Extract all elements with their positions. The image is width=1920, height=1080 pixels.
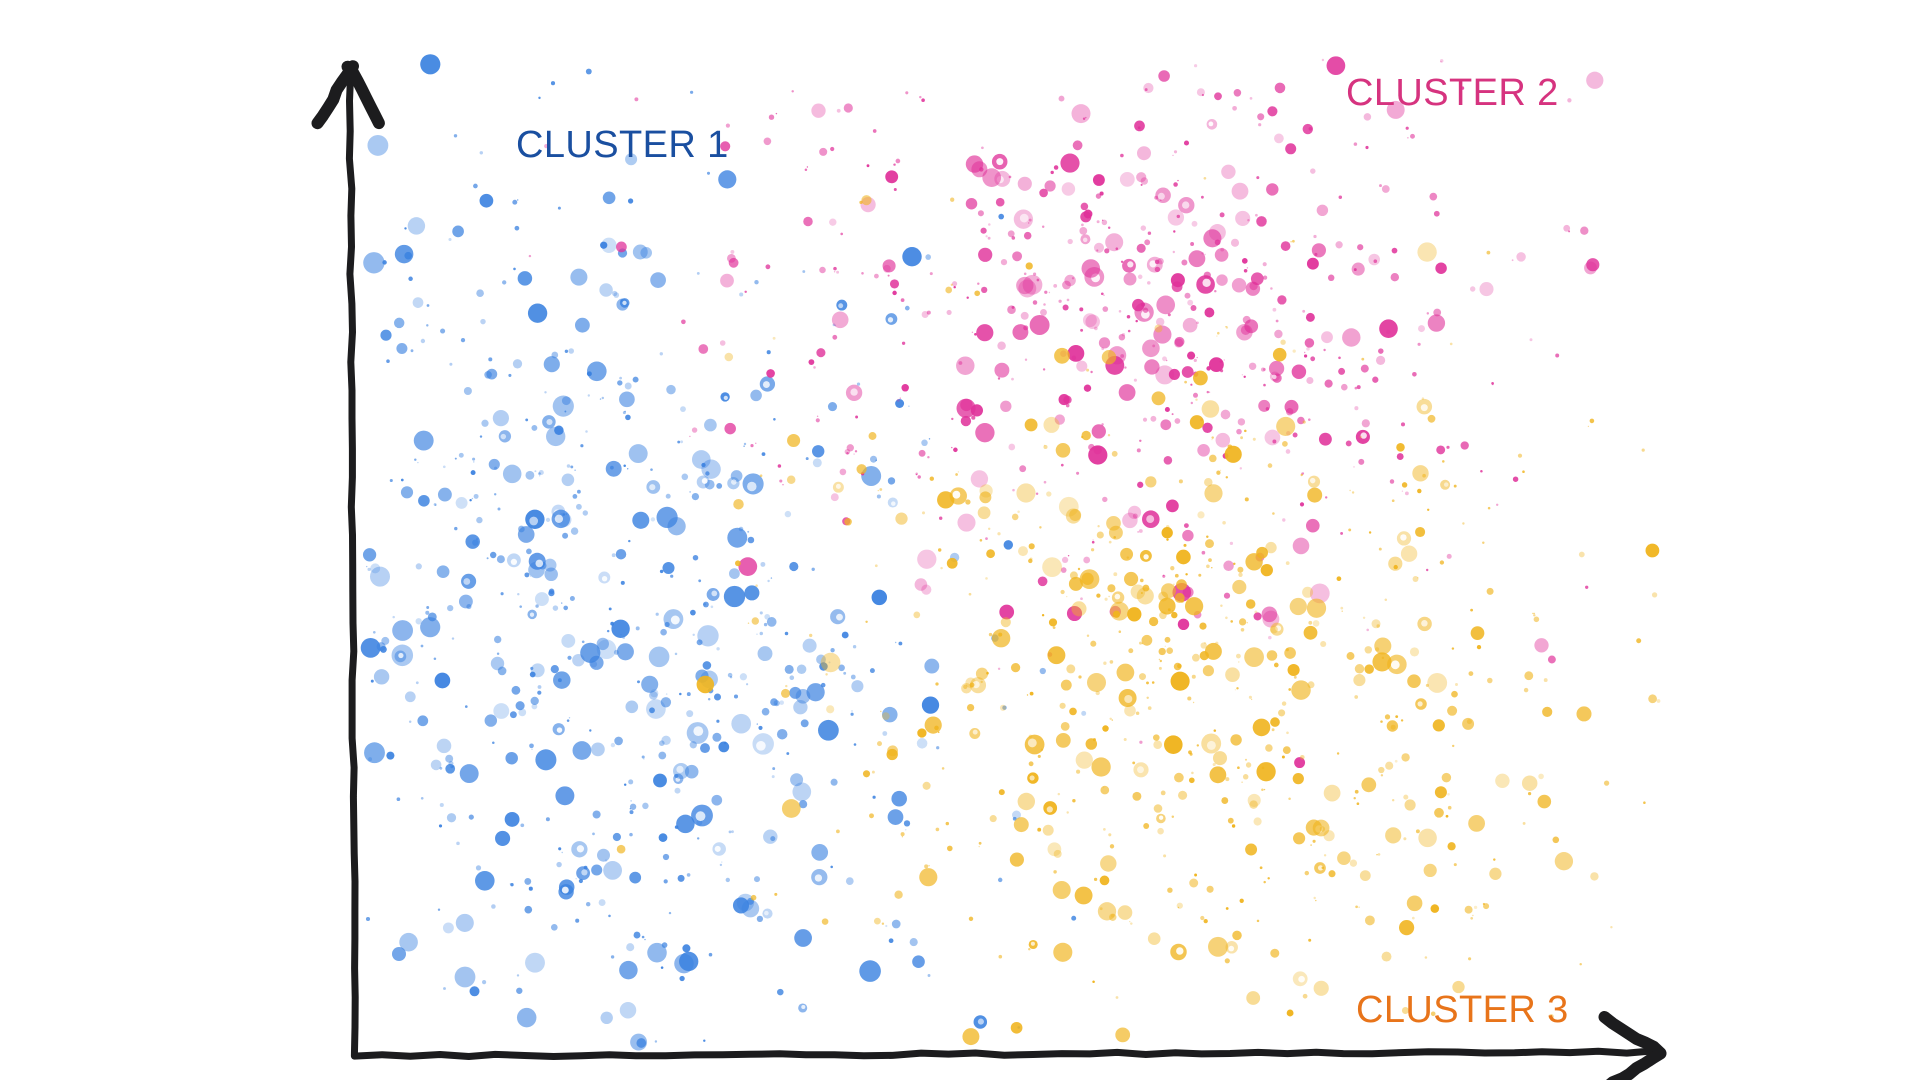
scatter-plot-figure: CLUSTER 1 CLUSTER 2 CLUSTER 3 [0,0,1920,1080]
cluster-2-label: CLUSTER 2 [1346,72,1559,115]
cluster-1-label: CLUSTER 1 [516,124,729,167]
x-axis-arrowhead-top [1605,1017,1661,1053]
axis-layer [318,66,1661,1080]
cluster-3-label: CLUSTER 3 [1356,989,1569,1032]
cluster-1-points [361,54,1086,1050]
scatter-plot-canvas [0,0,1920,1080]
y-axis-line [349,73,355,1056]
data-points-layer [361,54,1661,1050]
x-axis-line [354,1051,1653,1057]
x-axis-arrowhead-bottom [1605,1054,1661,1080]
